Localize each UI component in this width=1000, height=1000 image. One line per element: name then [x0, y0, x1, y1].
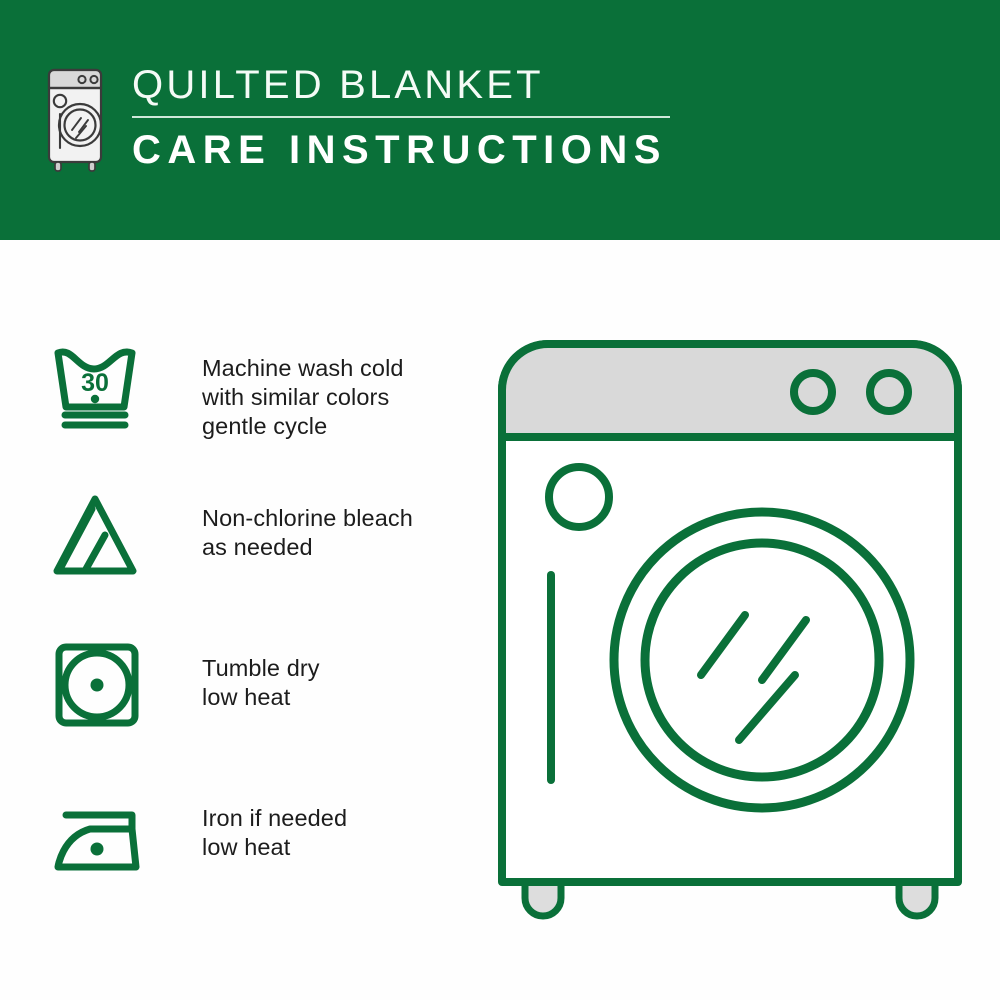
wash-temperature-value: 30 [81, 369, 109, 397]
care-line: low heat [202, 833, 347, 862]
header-title-block: QUILTED BLANKET CARE INSTRUCTIONS [132, 62, 670, 173]
wash-tub-30-gentle-icon: 30 [48, 330, 166, 440]
care-instructions-page: QUILTED BLANKET CARE INSTRUCTIONS 30 [0, 0, 1000, 1000]
care-item-text-machine-wash: Machine wash cold with similar colors ge… [202, 354, 404, 441]
care-line: low heat [202, 683, 320, 712]
iron-low-heat-icon [48, 780, 166, 890]
care-line: Iron if needed [202, 804, 347, 833]
care-line: Machine wash cold [202, 354, 404, 383]
title-divider [132, 116, 670, 118]
care-line: Non-chlorine bleach [202, 504, 413, 533]
tumble-dry-low-heat-icon [48, 630, 166, 740]
care-item-text-tumble-dry: Tumble dry low heat [202, 654, 320, 712]
care-item-machine-wash: 30 Machine wash cold with similar colors… [48, 330, 478, 480]
care-item-text-bleach: Non-chlorine bleach as needed [202, 504, 413, 562]
care-item-tumble-dry: Tumble dry low heat [48, 630, 478, 780]
care-line: as needed [202, 533, 413, 562]
page-title: QUILTED BLANKET [132, 62, 670, 108]
header-content: QUILTED BLANKET CARE INSTRUCTIONS [44, 62, 670, 174]
washing-machine-logo-icon [44, 62, 106, 174]
control-panel [502, 344, 958, 437]
care-line: gentle cycle [202, 412, 404, 441]
non-chlorine-bleach-triangle-icon [48, 480, 166, 590]
care-line: Tumble dry [202, 654, 320, 683]
care-instruction-list: 30 Machine wash cold with similar colors… [48, 330, 478, 930]
washing-machine-illustration [495, 330, 965, 930]
care-item-bleach: Non-chlorine bleach as needed [48, 480, 478, 630]
care-line: with similar colors [202, 383, 404, 412]
care-item-text-iron: Iron if needed low heat [202, 804, 347, 862]
care-item-iron: Iron if needed low heat [48, 780, 478, 930]
page-header: QUILTED BLANKET CARE INSTRUCTIONS [0, 0, 1000, 240]
page-subtitle: CARE INSTRUCTIONS [132, 127, 670, 173]
